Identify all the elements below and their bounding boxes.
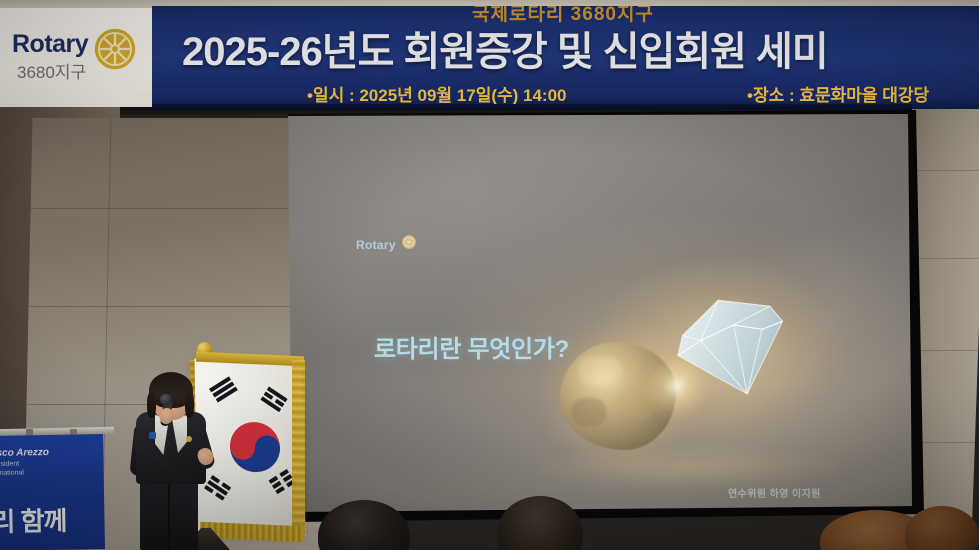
projection-screen: Rotary [288,114,912,512]
rollup-president-name: ncesco Arezzo [0,447,49,459]
speaker-hair-right [185,392,194,418]
rotary-gear-icon [92,26,138,72]
speaker-hair-left [147,392,156,418]
screen-vignette [288,114,912,512]
rollup-banner: ncesco Arezzo -26 President ry Internati… [0,434,105,550]
conference-photo-scene: Rotary 3680지구 [0,0,979,550]
banner-place: •장소 : 효문화마을 대강당 [747,81,929,106]
speaker-badge [149,432,156,439]
banner-date: •일시 : 2025년 09월 17일(수) 14:00 [307,81,567,106]
speaker-leg-split [168,480,170,550]
banner-bottom-edge [152,104,912,110]
rotary-wordmark: Rotary [12,30,88,59]
rotary-district-label: 3680지구 [17,58,86,83]
rotary-district-logo-block: Rotary 3680지구 [0,8,152,107]
rollup-president-role: -26 President [0,461,19,469]
event-banner: 국제로타리 3680지구 2025-26년도 회원증강 및 신입회원 세미 •일… [152,6,979,109]
flag-fringe-right [292,360,305,539]
rollup-slogan: 으리 함께 [0,501,67,540]
microphone-head-icon [160,394,172,405]
taeguk-symbol [230,421,281,472]
banner-title: 2025-26년도 회원증강 및 신입회원 세미 [182,19,828,77]
rollup-organization: ry International [0,469,24,477]
speaker-jacket [136,412,206,484]
speaker-pin [186,436,192,442]
